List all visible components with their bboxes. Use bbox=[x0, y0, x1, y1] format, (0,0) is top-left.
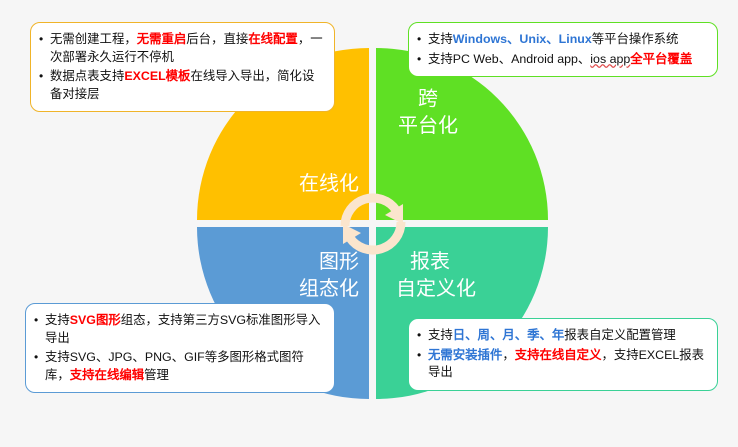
callout-text-run: ios app bbox=[590, 52, 630, 66]
callout-text-run: 支持PC Web、Android app、 bbox=[428, 52, 590, 66]
callout-text-run: 日、周、月、季、年 bbox=[453, 328, 565, 342]
callout-text-run: 全平台覆盖 bbox=[630, 52, 692, 66]
callout-text-run: 无需创建工程， bbox=[50, 32, 137, 46]
callout-bullet: 支持日、周、月、季、年报表自定义配置管理 bbox=[417, 327, 707, 345]
callout-report-customization-list: 支持日、周、月、季、年报表自定义配置管理无需安装插件，支持在线自定义，支持EXC… bbox=[417, 327, 707, 382]
callout-bullet: 无需安装插件，支持在线自定义，支持EXCEL报表导出 bbox=[417, 347, 707, 382]
callout-bullet: 数据点表支持EXCEL模板在线导入导出，简化设备对接层 bbox=[39, 68, 324, 103]
callout-text-run: 在线配置 bbox=[248, 32, 298, 46]
callout-text-run: Windows、Unix、Linux bbox=[453, 32, 592, 46]
callout-text-run: 报表自定义配置管理 bbox=[564, 328, 676, 342]
callout-cross-platform: 支持Windows、Unix、Linux等平台操作系统支持PC Web、Andr… bbox=[408, 22, 718, 77]
callout-text-run: 管理 bbox=[144, 368, 169, 382]
callout-text-run: ， bbox=[502, 348, 514, 362]
quadrant-report-customization-label: 报表 自定义化 bbox=[396, 249, 476, 303]
callout-text-run: 支持在线编辑 bbox=[70, 368, 144, 382]
callout-text-run: 数据点表支持 bbox=[50, 69, 124, 83]
callout-text-run: 支持 bbox=[428, 32, 453, 46]
callout-text-run: 支持 bbox=[45, 313, 70, 327]
callout-bullet: 支持SVG图形组态，支持第三方SVG标准图形导入导出 bbox=[34, 312, 324, 347]
callout-bullet: 支持SVG、JPG、PNG、GIF等多图形格式图符库，支持在线编辑管理 bbox=[34, 349, 324, 384]
callout-online-list: 无需创建工程，无需重启后台，直接在线配置，一次部署永久运行不停机数据点表支持EX… bbox=[39, 31, 324, 103]
callout-text-run: EXCEL模板 bbox=[124, 69, 190, 83]
quadrant-online-label: 在线化 bbox=[299, 171, 359, 198]
quadrant-cross-platform-label: 跨 平台化 bbox=[398, 86, 458, 140]
callout-cross-platform-list: 支持Windows、Unix、Linux等平台操作系统支持PC Web、Andr… bbox=[417, 31, 707, 68]
callout-text-run: 支持 bbox=[428, 328, 453, 342]
callout-bullet: 无需创建工程，无需重启后台，直接在线配置，一次部署永久运行不停机 bbox=[39, 31, 324, 66]
callout-report-customization: 支持日、周、月、季、年报表自定义配置管理无需安装插件，支持在线自定义，支持EXC… bbox=[408, 318, 718, 391]
callout-text-run: 支持在线自定义 bbox=[515, 348, 602, 362]
callout-text-run: 等平台操作系统 bbox=[592, 32, 679, 46]
callout-text-run: 无需安装插件 bbox=[428, 348, 502, 362]
callout-text-run: 后台，直接 bbox=[186, 32, 248, 46]
diagram-canvas: 在线化 跨 平台化 图形 组态化 报表 自定义化 bbox=[0, 0, 738, 447]
callout-bullet: 支持Windows、Unix、Linux等平台操作系统 bbox=[417, 31, 707, 49]
callout-text-run: SVG图形 bbox=[70, 313, 121, 327]
callout-bullet: 支持PC Web、Android app、ios app全平台覆盖 bbox=[417, 51, 707, 69]
quadrant-graphic-configuration-label: 图形 组态化 bbox=[299, 249, 359, 303]
callout-graphic-configuration-list: 支持SVG图形组态，支持第三方SVG标准图形导入导出支持SVG、JPG、PNG、… bbox=[34, 312, 324, 384]
callout-text-run: 无需重启 bbox=[137, 32, 187, 46]
callout-graphic-configuration: 支持SVG图形组态，支持第三方SVG标准图形导入导出支持SVG、JPG、PNG、… bbox=[25, 303, 335, 393]
callout-online: 无需创建工程，无需重启后台，直接在线配置，一次部署永久运行不停机数据点表支持EX… bbox=[30, 22, 335, 112]
